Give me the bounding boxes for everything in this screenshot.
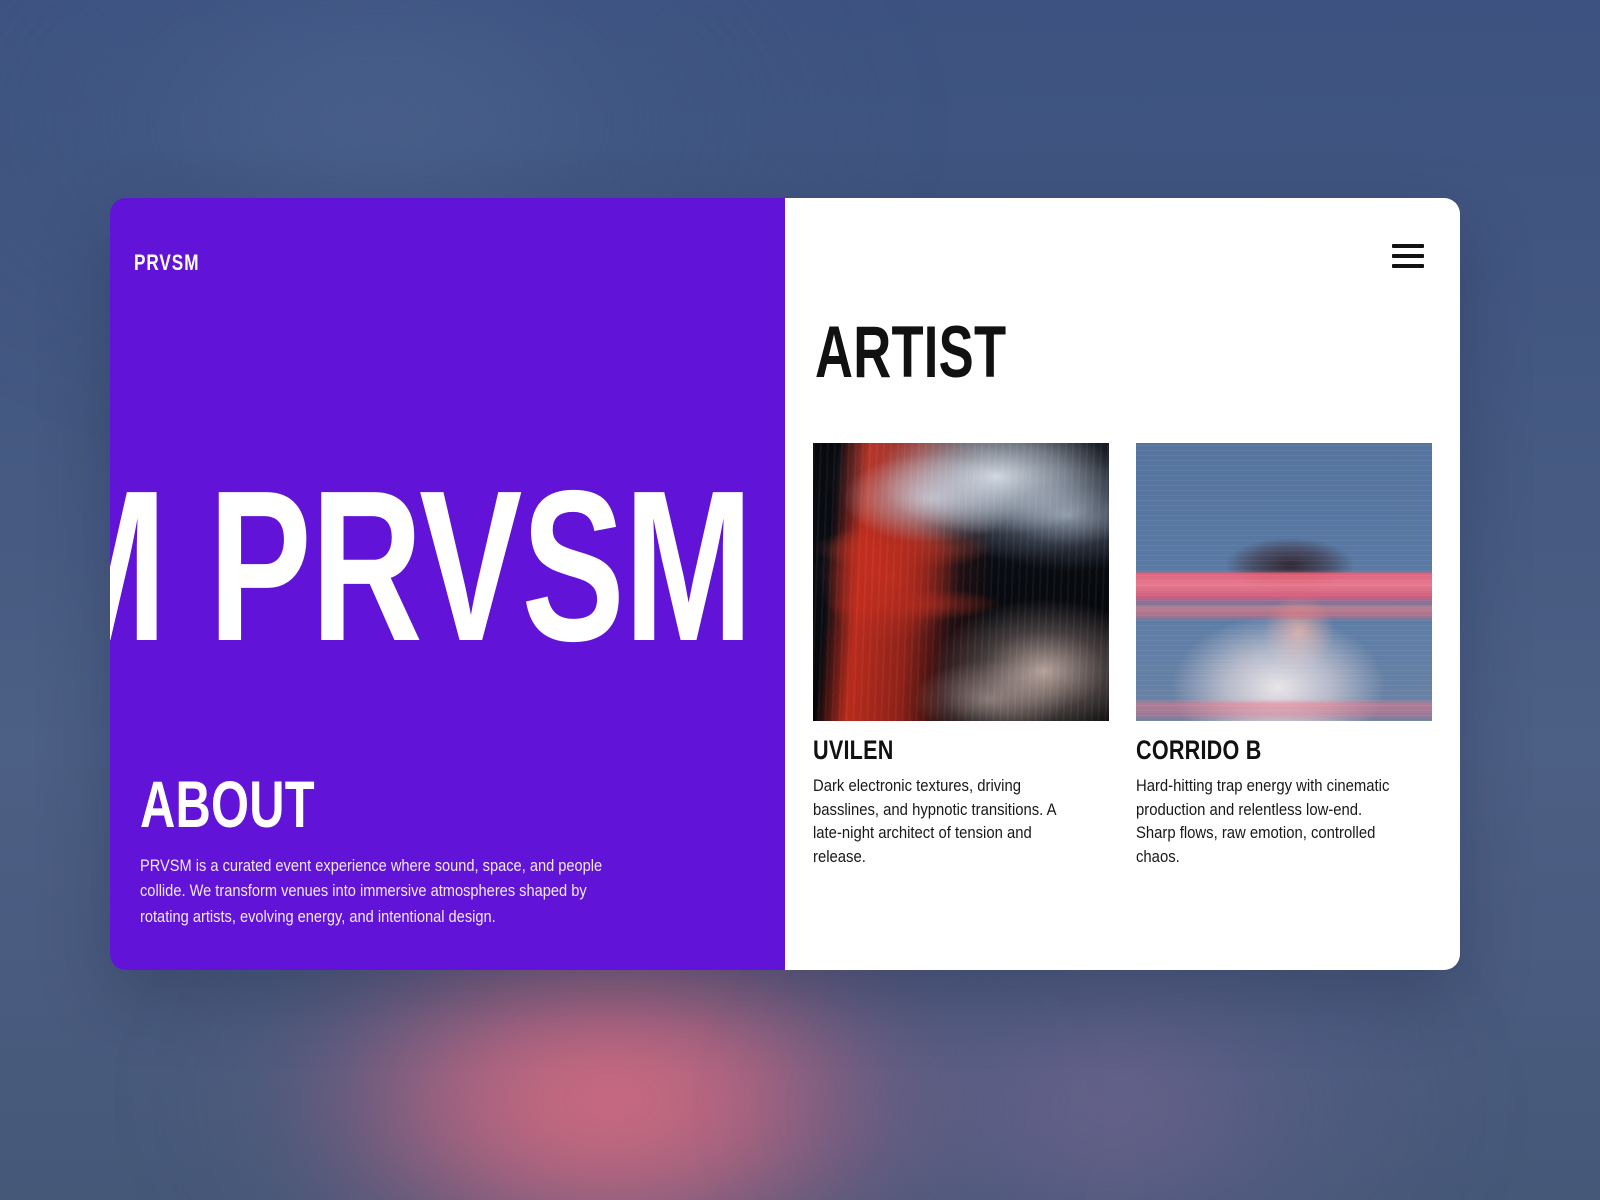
marquee-text: M PRVSM P [110,470,785,660]
marquee-banner: M PRVSM P [110,470,785,660]
about-heading: ABOUT [140,771,540,837]
artist-name: UVILEN [813,737,1050,764]
menu-line-middle [1392,254,1424,258]
brand-logo[interactable]: PRVSM [134,250,199,276]
about-section: ABOUT PRVSM is a curated event experienc… [140,771,680,930]
menu-line-top [1392,244,1424,248]
hamburger-menu-icon[interactable] [1392,244,1424,268]
artist-image-corrido-b [1136,443,1432,721]
artist-name: CORRIDO B [1136,737,1373,764]
about-paragraph: PRVSM is a curated event experience wher… [140,853,622,930]
artist-description: Hard-hitting trap energy with cinematic … [1136,775,1399,869]
hero-panel: PRVSM M PRVSM P ABOUT PRVSM is a curated… [110,198,785,970]
artist-description: Dark electronic textures, driving bassli… [813,775,1076,869]
artist-image-uvilen [813,443,1109,721]
page-title: ARTIST [815,316,1006,389]
artist-panel: ARTIST UVILEN Dark electronic textures, … [785,198,1460,970]
website-card: PRVSM M PRVSM P ABOUT PRVSM is a curated… [110,198,1460,970]
artist-card-uvilen[interactable]: UVILEN Dark electronic textures, driving… [813,443,1109,869]
artist-grid: UVILEN Dark electronic textures, driving… [813,443,1432,869]
menu-line-bottom [1392,264,1424,268]
artist-card-corrido-b[interactable]: CORRIDO B Hard-hitting trap energy with … [1136,443,1432,869]
